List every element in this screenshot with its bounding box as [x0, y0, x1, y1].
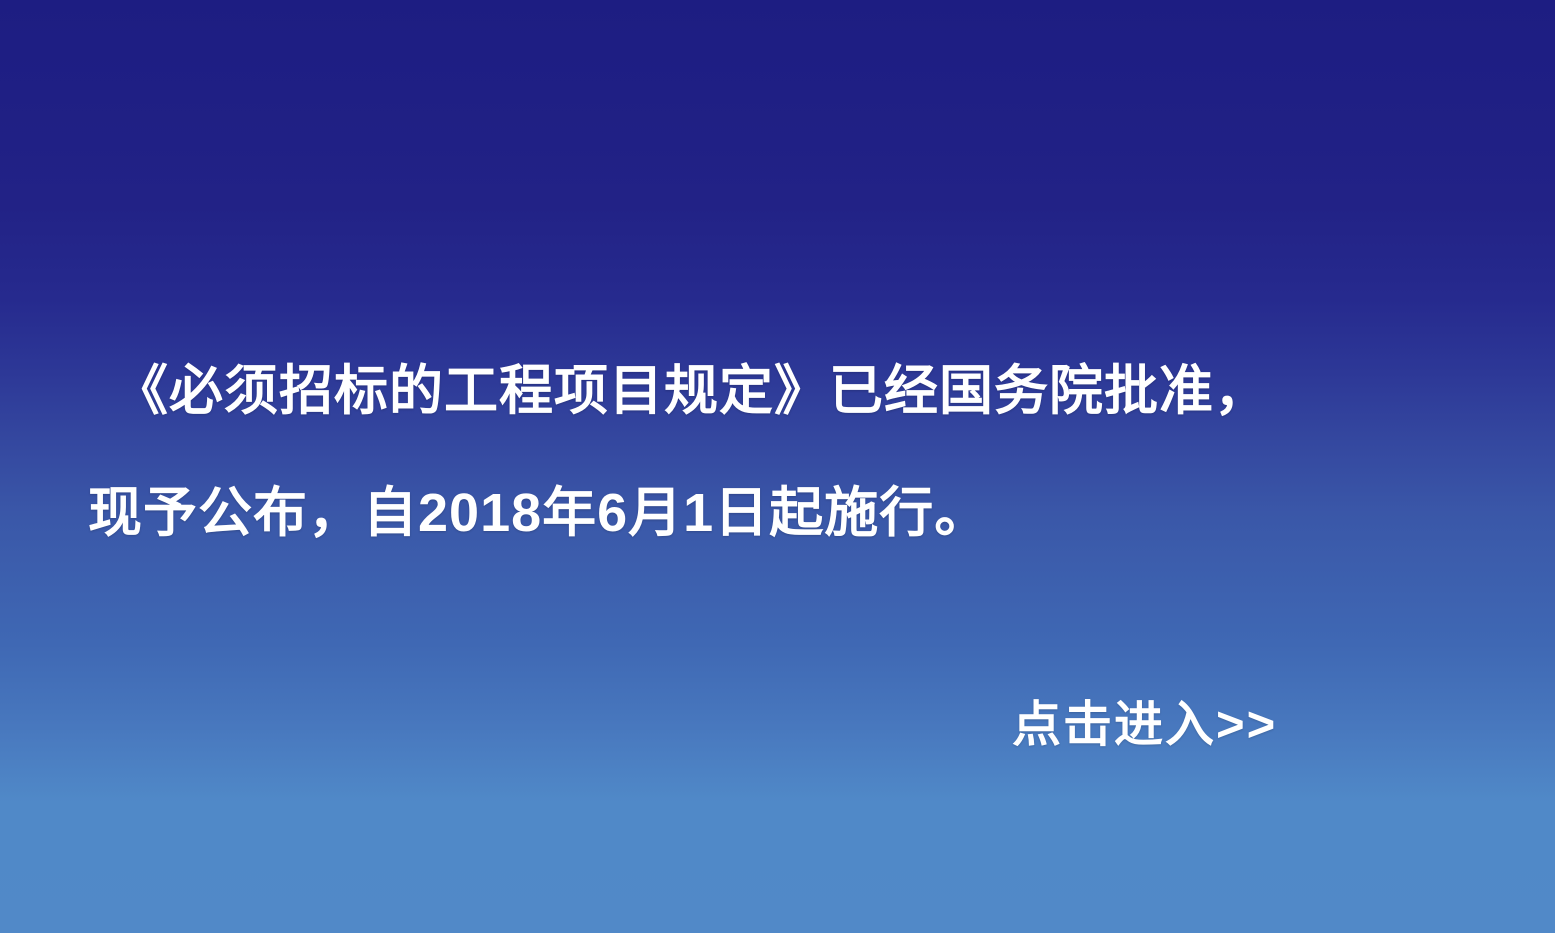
announcement-text-block: 《必须招标的工程项目规定》已经国务院批准， 现予公布，自2018年6月1日起施行…	[88, 330, 1488, 574]
announcement-line-1: 《必须招标的工程项目规定》已经国务院批准，	[88, 330, 1488, 452]
announcement-line-2: 现予公布，自2018年6月1日起施行。	[88, 452, 1488, 574]
enter-link[interactable]: 点击进入>>	[1012, 692, 1277, 758]
announcement-banner: 《必须招标的工程项目规定》已经国务院批准， 现予公布，自2018年6月1日起施行…	[0, 0, 1555, 933]
